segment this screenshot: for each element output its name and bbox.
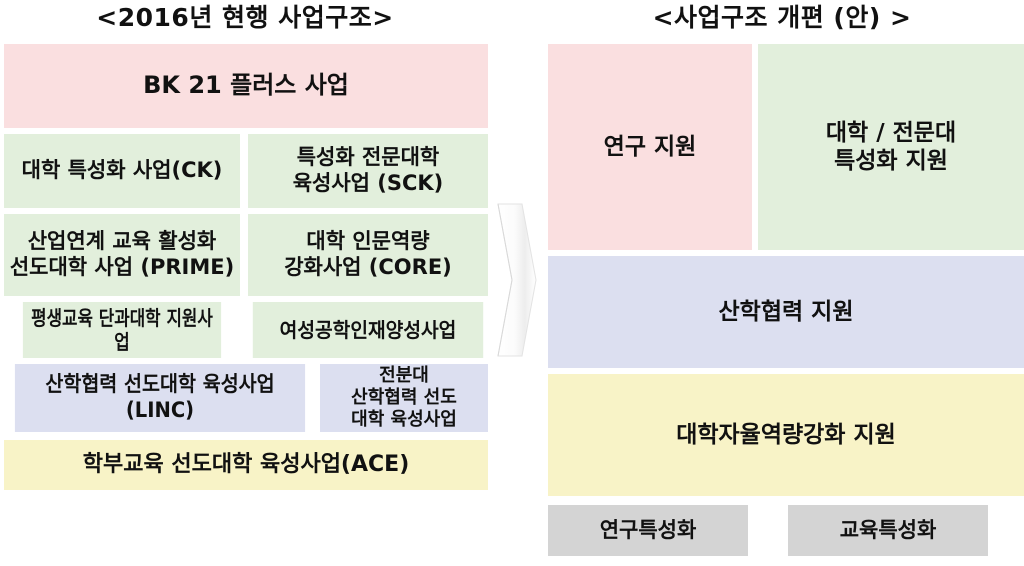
diagram-canvas: <2016년 현행 사업구조> <사업구조 개편 (안) > BK 21 플러스… [0, 0, 1024, 566]
program-box-prime: 산업연계 교육 활성화 선도대학 사업 (PRIME) [4, 214, 240, 296]
program-box-ck: 대학 특성화 사업(CK) [4, 134, 240, 208]
program-box-sck: 특성화 전문대학 육성사업 (SCK) [248, 134, 488, 208]
right-panel-title: <사업구조 개편 (안) > [540, 2, 1024, 34]
footer-box-education-specialization: 교육특성화 [788, 505, 988, 556]
program-box-women-engineering-talent: 여성공학인재양성사업 [253, 302, 483, 358]
reform-box-university-autonomy-support: 대학자율역량강화 지원 [548, 374, 1024, 496]
program-box-lifelong-education-college: 평생교육 단과대학 지원사업 [23, 302, 221, 358]
program-box-linc-college: 전분대 산학협력 선도 대학 육성사업 [320, 364, 488, 432]
program-box-core: 대학 인문역량 강화사업 (CORE) [248, 214, 488, 296]
program-box-bk21: BK 21 플러스 사업 [4, 44, 488, 128]
footer-box-research-specialization: 연구특성화 [548, 505, 748, 556]
reform-box-specialization-support: 대학 / 전문대 특성화 지원 [758, 44, 1024, 250]
reform-box-research-support: 연구 지원 [548, 44, 752, 250]
program-box-ace: 학부교육 선도대학 육성사업(ACE) [4, 440, 488, 490]
left-panel-title: <2016년 현행 사업구조> [0, 2, 490, 34]
program-box-linc: 산학협력 선도대학 육성사업 (LINC) [15, 364, 305, 432]
arrow-right-icon [492, 190, 542, 370]
reform-box-industry-academia-support: 산학협력 지원 [548, 256, 1024, 368]
